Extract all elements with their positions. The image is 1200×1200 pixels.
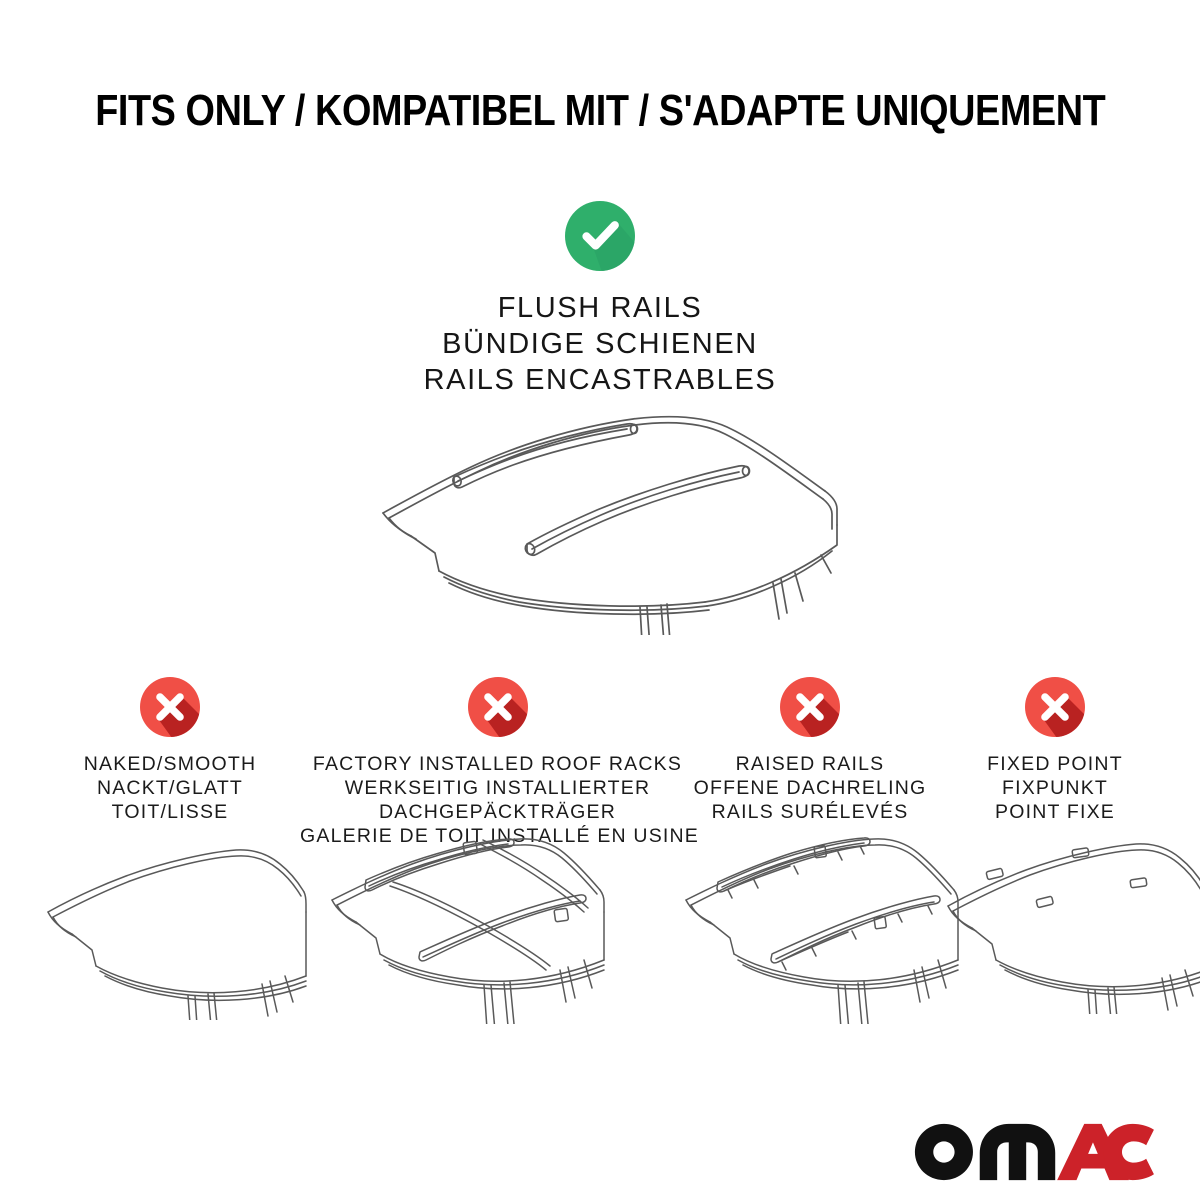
compatible-label-de: BÜNDIGE SCHIENEN bbox=[0, 326, 1200, 362]
label-de-2: DACHGEPÄCKTRÄGER bbox=[300, 800, 695, 824]
label-fr: RAILS SURÉLEVÉS bbox=[672, 800, 948, 824]
car-roof-raised-rails-illustration bbox=[662, 824, 962, 1024]
label-de: OFFENE DACHRELING bbox=[672, 776, 948, 800]
cross-circle-icon bbox=[779, 676, 841, 738]
compatible-section: FLUSH RAILS BÜNDIGE SCHIENEN RAILS ENCAS… bbox=[0, 200, 1200, 398]
page-title-bar: FITS ONLY / KOMPATIBEL MIT / S'ADAPTE UN… bbox=[0, 86, 1200, 136]
check-circle-icon bbox=[564, 200, 636, 272]
car-roof-flush-rails-illustration bbox=[375, 405, 845, 635]
label-en: NAKED/SMOOTH bbox=[40, 752, 300, 776]
car-roof-factory-racks-illustration bbox=[308, 824, 608, 1024]
incompatible-section: NAKED/SMOOTH NACKT/GLATT TOIT/LISSE bbox=[0, 676, 1200, 1096]
compatible-labels: FLUSH RAILS BÜNDIGE SCHIENEN RAILS ENCAS… bbox=[0, 290, 1200, 398]
omac-logo bbox=[912, 1122, 1154, 1182]
incompatible-labels-raised-rails: RAISED RAILS OFFENE DACHRELING RAILS SUR… bbox=[672, 752, 948, 824]
label-de-1: WERKSEITIG INSTALLIERTER bbox=[300, 776, 695, 800]
incompatible-labels-fixed-point: FIXED POINT FIXPUNKT POINT FIXE bbox=[940, 752, 1170, 824]
incompatible-labels-naked: NAKED/SMOOTH NACKT/GLATT TOIT/LISSE bbox=[40, 752, 300, 824]
compatible-label-fr: RAILS ENCASTRABLES bbox=[0, 362, 1200, 398]
label-en: RAISED RAILS bbox=[672, 752, 948, 776]
label-de: FIXPUNKT bbox=[940, 776, 1170, 800]
compatible-label-en: FLUSH RAILS bbox=[0, 290, 1200, 326]
cross-circle-icon bbox=[1024, 676, 1086, 738]
car-roof-naked-illustration bbox=[40, 840, 308, 1020]
incompatible-item-factory-racks: FACTORY INSTALLED ROOF RACKS WERKSEITIG … bbox=[300, 676, 695, 848]
cross-circle-icon bbox=[467, 676, 529, 738]
label-en: FIXED POINT bbox=[940, 752, 1170, 776]
car-roof-fixed-point-illustration bbox=[940, 834, 1200, 1014]
label-en: FACTORY INSTALLED ROOF RACKS bbox=[300, 752, 695, 776]
page-title: FITS ONLY / KOMPATIBEL MIT / S'ADAPTE UN… bbox=[95, 86, 1105, 136]
incompatible-item-raised-rails: RAISED RAILS OFFENE DACHRELING RAILS SUR… bbox=[672, 676, 948, 824]
label-fr: TOIT/LISSE bbox=[40, 800, 300, 824]
incompatible-item-fixed-point: FIXED POINT FIXPUNKT POINT FIXE bbox=[940, 676, 1170, 824]
label-fr: POINT FIXE bbox=[940, 800, 1170, 824]
label-de: NACKT/GLATT bbox=[40, 776, 300, 800]
cross-circle-icon bbox=[139, 676, 201, 738]
incompatible-item-naked: NAKED/SMOOTH NACKT/GLATT TOIT/LISSE bbox=[40, 676, 300, 824]
